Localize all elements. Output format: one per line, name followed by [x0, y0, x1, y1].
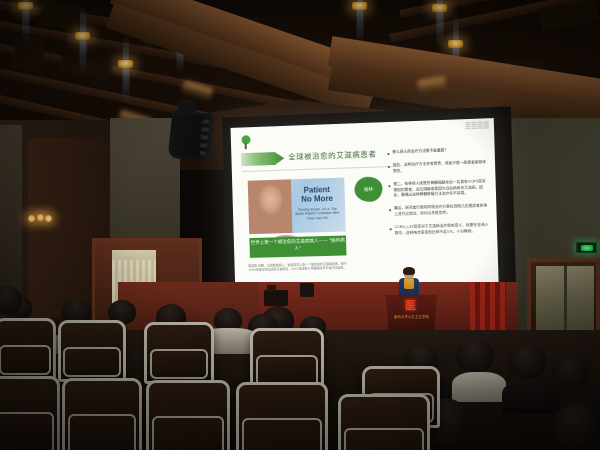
ceiling-spotlight: [18, 2, 33, 10]
bullet-item: 最后，研究者们使用同样治疗方案在其他几位感染者的身上进行过尝试，但均以失败告终。: [389, 204, 488, 218]
podium-logo: 医: [404, 300, 417, 312]
bullet-dot-icon: [387, 153, 389, 155]
seat[interactable]: [0, 318, 56, 380]
projection-screen: 全球被治愈的艾滋病患者 Patient No More Timothy Brow…: [231, 118, 499, 293]
bullet-item: CCR5-△32突变对于艾滋病治疗很有意义，但是在亚洲人群中，这种纯合突变的比例…: [390, 223, 489, 237]
ceiling-spotlight: [432, 4, 447, 12]
image-caption: 世界上第一个被治愈的艾滋病病人—— "柏林病人": [249, 235, 346, 257]
bullet-dot-icon: [389, 210, 391, 212]
ceiling-spotlight: [448, 40, 463, 48]
line-array-speaker-left: [168, 110, 215, 162]
podium-institution-text: 医科大学公共卫生学院: [390, 314, 433, 319]
bullet-text: 第二，柏林病人接受的骨髓捐献来自一名具有CCR5突变基因的患者，这位捐献者是因为…: [393, 179, 488, 198]
magazine-subtext: Timothy Brown, a.k.a. "the Berlin Patien…: [294, 207, 342, 222]
bullet-text: CCR5-△32突变对于艾滋病治疗很有意义，但是在亚洲人群中，这种纯合突变的比例…: [395, 223, 489, 236]
seat[interactable]: [236, 382, 328, 450]
bullet-text: 最后，研究者们使用同样治疗方案在其他几位感染者的身上进行过尝试，但均以失败告终。: [394, 204, 488, 218]
seat[interactable]: [144, 322, 214, 384]
green-blob-label: 柏林: [354, 176, 383, 202]
title-ribbon-icon: [241, 152, 284, 166]
stage-equipment: [300, 283, 314, 297]
attendee-head: [456, 338, 494, 372]
wall-speaker-small: [178, 100, 196, 114]
wall-sconce-light: [28, 215, 52, 224]
tree-icon: [241, 135, 252, 150]
seat[interactable]: [62, 378, 142, 450]
portrait-photo: [248, 179, 293, 234]
stage-equipment: [264, 290, 288, 306]
attendee-shoulders: [452, 372, 506, 402]
ceiling-spotlight: [352, 2, 367, 10]
seat[interactable]: [58, 320, 126, 382]
magazine-headline-2: No More: [293, 194, 341, 204]
ceiling-rig: [38, 0, 81, 31]
bullet-dot-icon: [388, 166, 390, 168]
ceiling-spotlight: [118, 60, 133, 68]
presentation-slide: 全球被治愈的艾滋病患者 Patient No More Timothy Brow…: [231, 118, 499, 293]
bullet-dot-icon: [388, 185, 390, 187]
title-underline: [242, 166, 400, 172]
ceiling-spotlight: [75, 32, 90, 40]
auditorium-photo: 全球被治愈的艾滋病患者 Patient No More Timothy Brow…: [0, 0, 600, 450]
seat[interactable]: [0, 376, 60, 450]
attendee-head: [508, 344, 546, 378]
bullet-list: 那么病人的治疗方法是不能重复？ 首先，这种治疗方法非常昂贵，或者不是一般患者能够…: [387, 147, 489, 245]
bullet-item: 首先，这种治疗方法非常昂贵，或者不是一般患者能够承受的。: [388, 160, 487, 174]
blob-text: 柏林: [364, 186, 373, 192]
attendee-head: [552, 356, 588, 388]
ceiling-rig: [12, 34, 46, 72]
emergency-exit-icon: [576, 242, 597, 253]
bullet-item: 第二，柏林病人接受的骨髓捐献来自一名具有CCR5突变基因的患者，这位捐献者是因为…: [388, 179, 488, 198]
slide-watermark-icon: [465, 121, 489, 129]
ceiling-rig: [59, 56, 113, 81]
slide-title: 全球被治愈的艾滋病患者: [288, 149, 377, 163]
bullet-text: 首先，这种治疗方法非常昂贵，或者不是一般患者能够承受的。: [393, 160, 487, 174]
seat[interactable]: [146, 380, 230, 450]
seat[interactable]: [338, 394, 430, 450]
bullet-item: 那么病人的治疗方法是不能重复？: [387, 147, 486, 156]
bullet-text: 那么病人的治疗方法是不能重复？: [392, 148, 448, 155]
bullet-dot-icon: [390, 228, 392, 230]
attendee-shoulders: [502, 380, 560, 414]
attendee-head: [552, 404, 600, 450]
slide-footnote: 蒂莫西·布朗，又称柏林病人，他是世界上第一个被治愈的艾滋病患者。他于1995年被…: [248, 261, 351, 272]
magazine-cover-image: Patient No More Timothy Brown, a.k.a. "t…: [248, 178, 346, 235]
